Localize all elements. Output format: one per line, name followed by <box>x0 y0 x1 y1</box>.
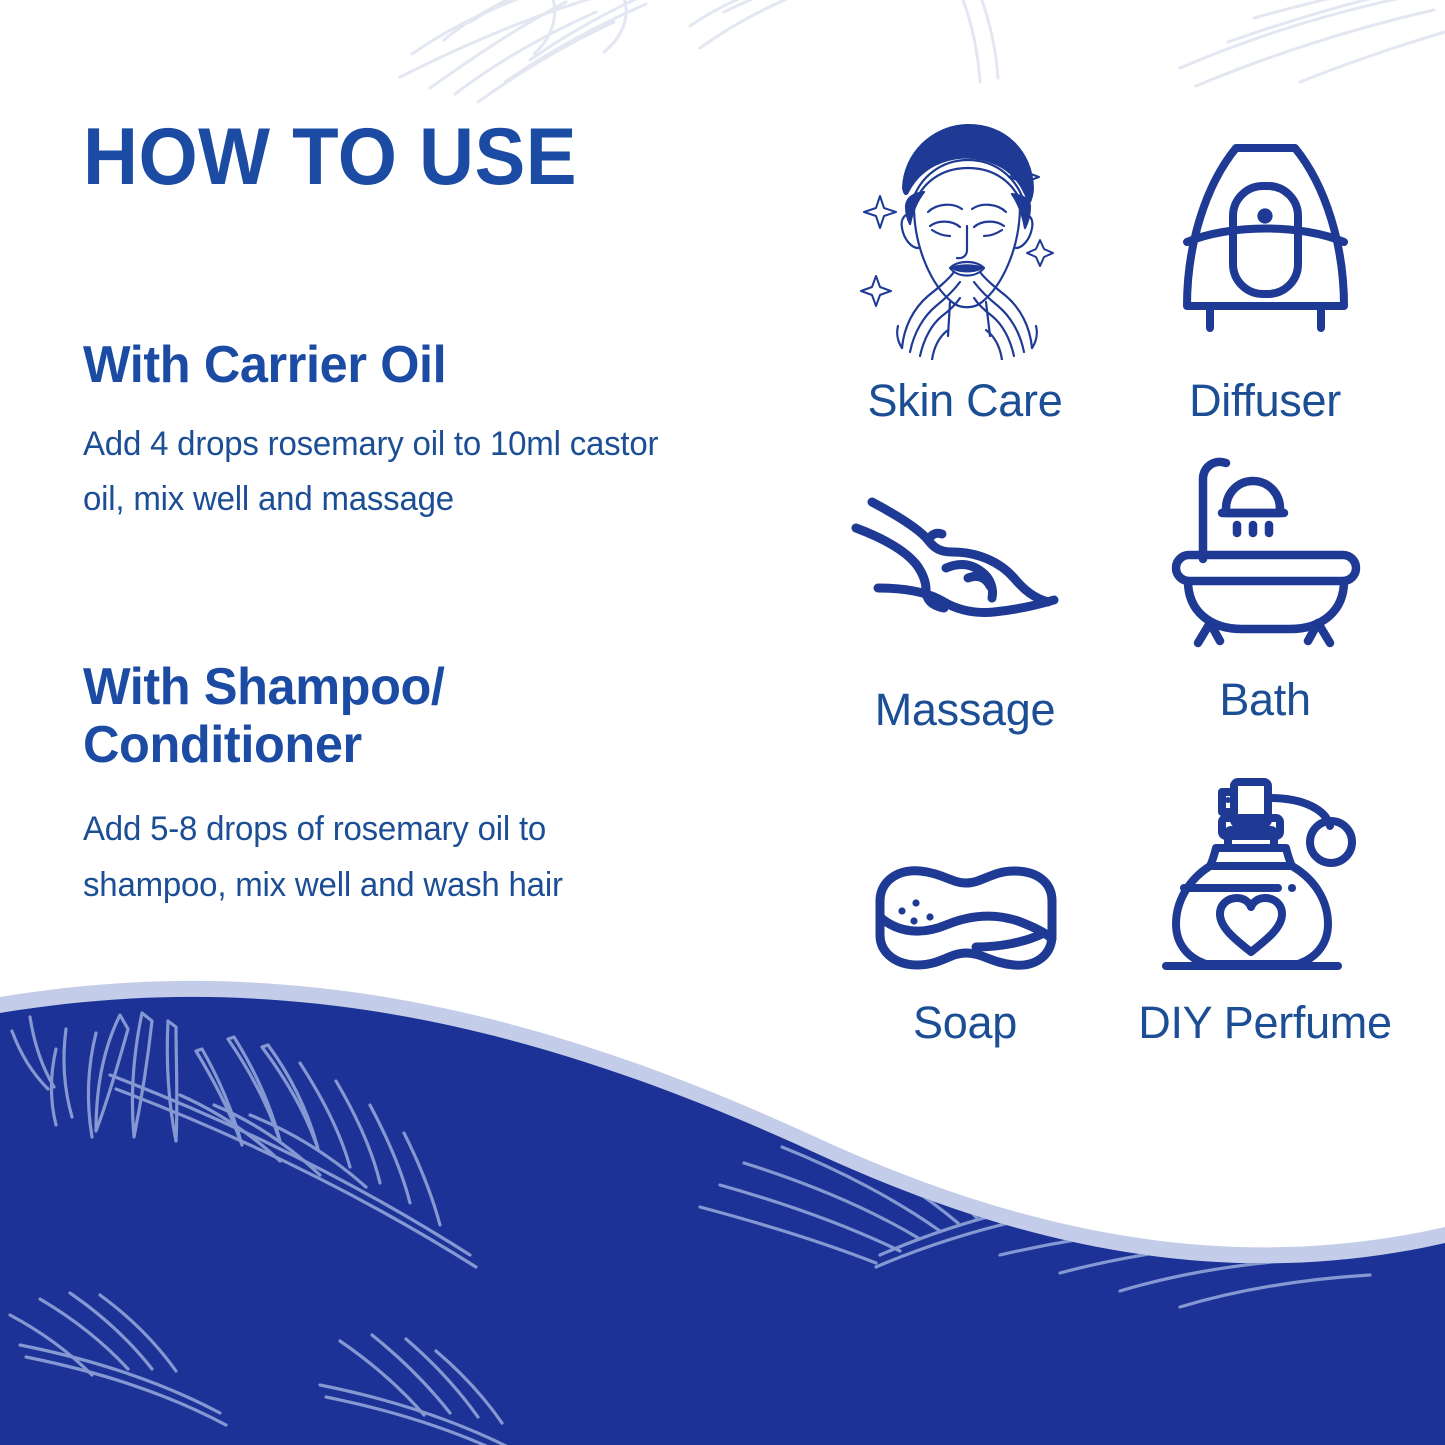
face-skincare-icon <box>840 110 1090 360</box>
usage-item-skin-care: Skin Care <box>820 110 1110 440</box>
section-heading-carrier-oil: With Carrier Oil <box>83 336 684 394</box>
blue-wave-band <box>0 955 1445 1445</box>
usage-item-diffuser: Diffuser <box>1120 110 1410 440</box>
usage-label-skin-care: Skin Care <box>868 378 1063 423</box>
bathtub-shower-icon <box>1158 440 1373 653</box>
section-heading-shampoo-line1: With Shampoo/ <box>83 658 684 716</box>
section-carrier-oil: With Carrier Oil Add 4 drops rosemary oi… <box>83 336 703 527</box>
rosemary-leaves-watermark <box>0 0 1445 112</box>
section-heading-shampoo-line2: Conditioner <box>83 716 684 774</box>
infographic-page: HOW TO USE With Carrier Oil Add 4 drops … <box>0 0 1445 1445</box>
page-title: HOW TO USE <box>83 118 685 197</box>
usage-item-massage: Massage <box>820 440 1110 765</box>
usage-label-diffuser: Diffuser <box>1189 378 1341 423</box>
massaging-hand-icon <box>848 440 1083 663</box>
section-shampoo-conditioner: With Shampoo/ Conditioner Add 5-8 drops … <box>83 658 703 913</box>
diffuser-icon <box>1158 110 1373 360</box>
instructions-column: HOW TO USE With Carrier Oil Add 4 drops … <box>83 118 723 197</box>
perfume-atomizer-icon <box>1158 765 1373 980</box>
usage-label-bath: Bath <box>1219 677 1310 722</box>
soap-bar-icon <box>858 765 1073 980</box>
section-body-shampoo-conditioner: Add 5-8 drops of rosemary oil to shampoo… <box>83 802 684 912</box>
usage-item-bath: Bath <box>1120 440 1410 765</box>
section-body-carrier-oil: Add 4 drops rosemary oil to 10ml castor … <box>83 417 684 527</box>
usage-label-massage: Massage <box>875 687 1056 732</box>
usage-icon-grid: Skin Care Diffuser <box>820 110 1420 1095</box>
